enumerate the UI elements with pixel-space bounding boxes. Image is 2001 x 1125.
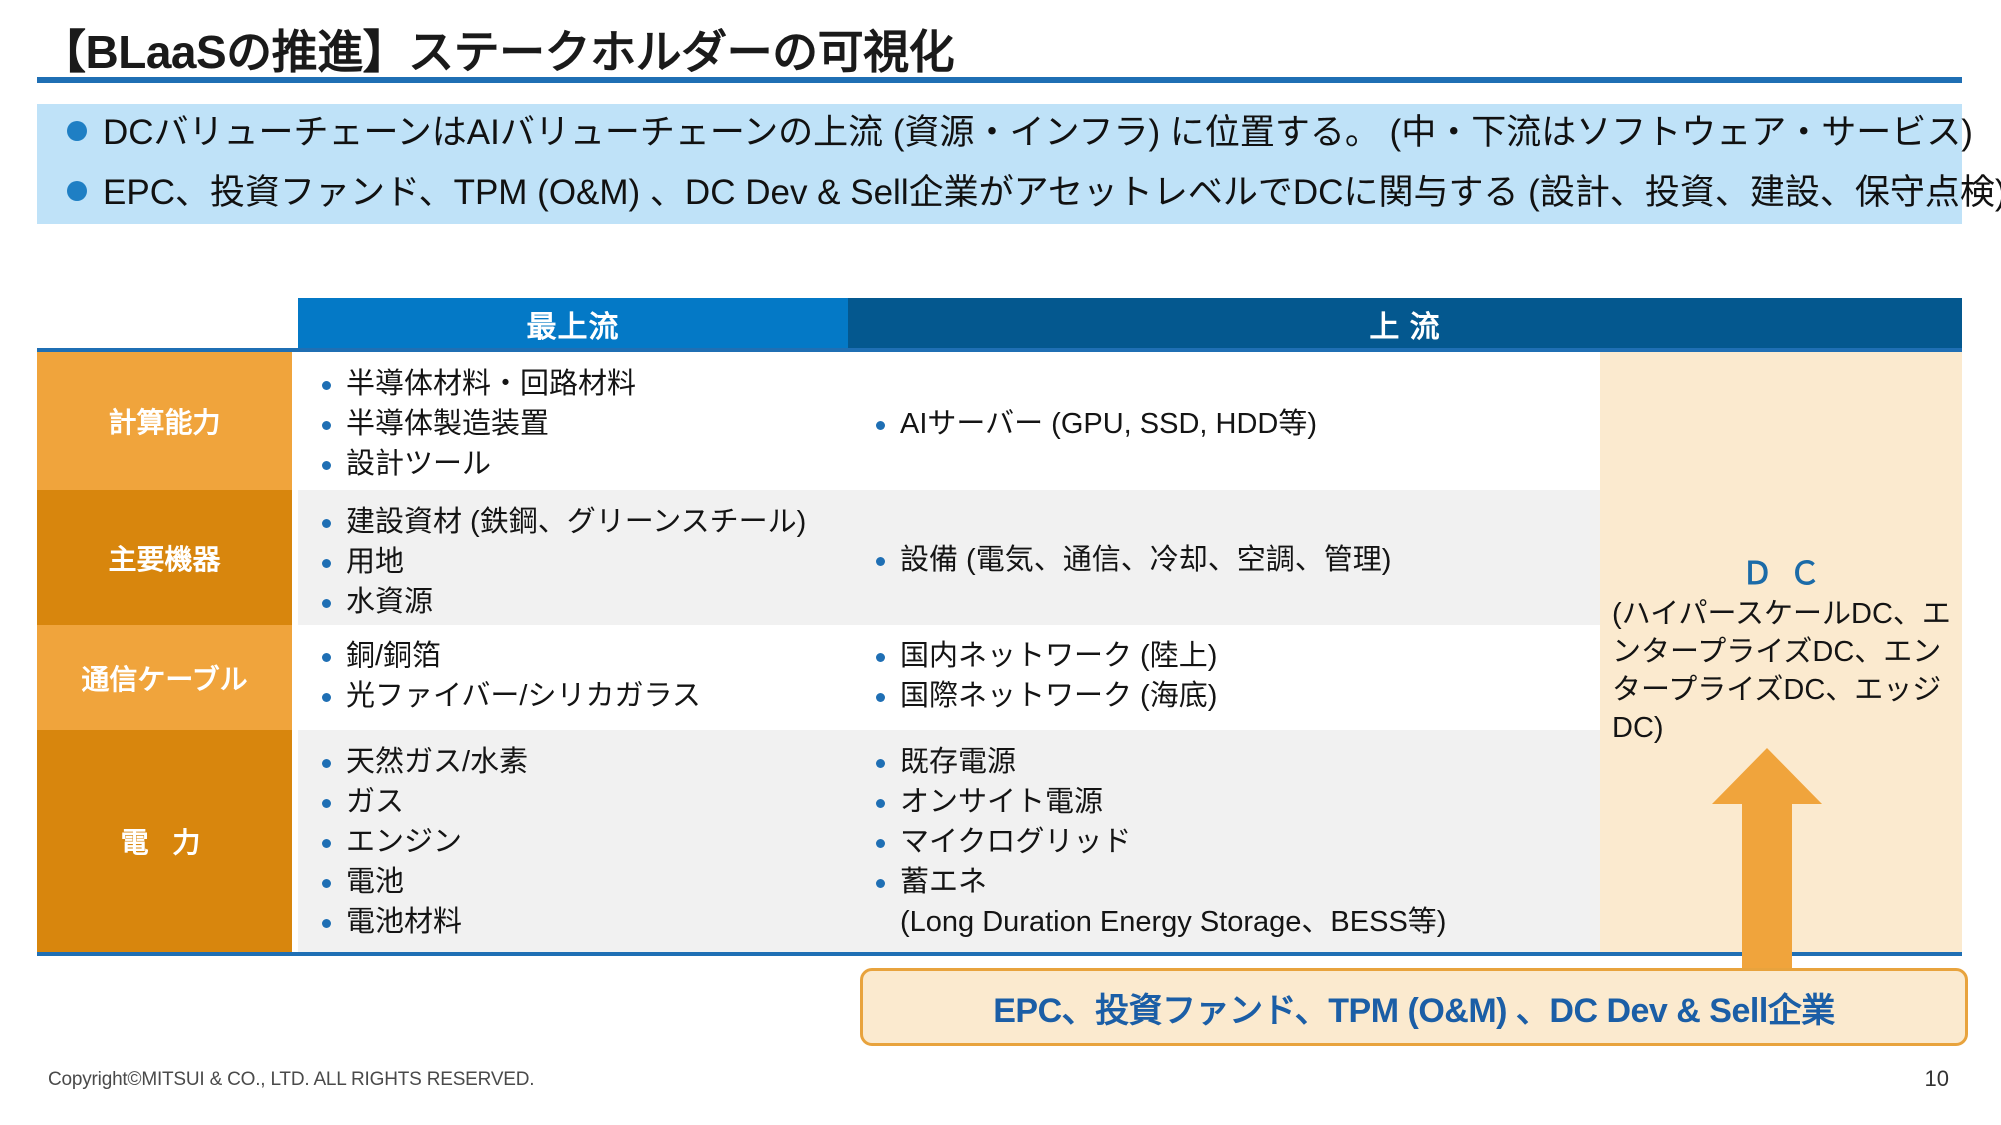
table-top-rule	[37, 348, 1962, 352]
list-item: 光ファイバー/シリカガラス	[318, 676, 838, 716]
epc-callout-box: EPC、投資ファンド、TPM (O&M) 、DC Dev & Sell企業	[860, 968, 1968, 1046]
list-item: 用地	[318, 542, 838, 582]
value-chain-table: 最上流 上 流 計算能力 主要機器 通信ケーブル 電 力 半導体材料・回路材料 …	[0, 0, 2001, 1125]
list-item: 天然ガス/水素	[318, 742, 838, 782]
list-item: 蓄エネ	[872, 862, 1592, 902]
table-cell-compute-upstream: AIサーバー (GPU, SSD, HDD等)	[872, 404, 1572, 444]
table-cell-compute-most-upstream: 半導体材料・回路材料 半導体製造装置 設計ツール	[318, 364, 838, 484]
list-item: 国際ネットワーク (海底)	[872, 676, 1572, 716]
dc-title: Ｄ Ｃ	[1612, 548, 1954, 593]
list-item: (Long Duration Energy Storage、BESS等)	[872, 902, 1592, 942]
table-row-label-key-equipment: 主要機器	[37, 490, 292, 625]
list-item: オンサイト電源	[872, 782, 1592, 822]
table-header-upstream: 上 流	[848, 298, 1962, 350]
table-cell-power-most-upstream: 天然ガス/水素 ガス エンジン 電池 電池材料	[318, 742, 838, 942]
list-item: 半導体材料・回路材料	[318, 364, 838, 404]
list-item: 電池材料	[318, 902, 838, 942]
dc-description: (ハイパースケールDC、エンタープライズDC、エンタープライズDC、エッジDC)	[1612, 595, 1954, 747]
list-item: エンジン	[318, 822, 838, 862]
list-item: マイクログリッド	[872, 822, 1592, 862]
table-row-label-power: 電 力	[37, 730, 292, 952]
list-item: 国内ネットワーク (陸上)	[872, 636, 1572, 676]
epc-callout-label: EPC、投資ファンド、TPM (O&M) 、DC Dev & Sell企業	[993, 983, 1835, 1032]
table-cell-key-equipment-upstream: 設備 (電気、通信、冷却、空調、管理)	[872, 540, 1572, 580]
slide-canvas: 【BLaaSの推進】ステークホルダーの可視化 DCバリューチェーンはAIバリュー…	[0, 0, 2001, 1125]
table-cell-comm-cable-upstream: 国内ネットワーク (陸上) 国際ネットワーク (海底)	[872, 636, 1572, 716]
table-bottom-rule	[37, 952, 1962, 956]
list-item: 既存電源	[872, 742, 1592, 782]
list-item: 銅/銅箔	[318, 636, 838, 676]
list-item: 電池	[318, 862, 838, 902]
copyright-notice: Copyright©MITSUI & CO., LTD. ALL RIGHTS …	[48, 1069, 534, 1091]
table-cell-power-upstream: 既存電源 オンサイト電源 マイクログリッド 蓄エネ (Long Duration…	[872, 742, 1592, 942]
list-item: 設備 (電気、通信、冷却、空調、管理)	[872, 540, 1572, 580]
up-arrow-icon	[1712, 748, 1822, 998]
table-cell-comm-cable-most-upstream: 銅/銅箔 光ファイバー/シリカガラス	[318, 636, 838, 716]
dc-text-block: Ｄ Ｃ (ハイパースケールDC、エンタープライズDC、エンタープライズDC、エッ…	[1612, 548, 1954, 747]
list-item: 設計ツール	[318, 444, 838, 484]
list-item: ガス	[318, 782, 838, 822]
list-item: 半導体製造装置	[318, 404, 838, 444]
list-item: 建設資材 (鉄鋼、グリーンスチール)	[318, 502, 838, 542]
table-row-label-compute: 計算能力	[37, 352, 292, 490]
table-cell-key-equipment-most-upstream: 建設資材 (鉄鋼、グリーンスチール) 用地 水資源	[318, 502, 838, 622]
list-item: AIサーバー (GPU, SSD, HDD等)	[872, 404, 1572, 444]
table-row-label-comm-cable: 通信ケーブル	[37, 625, 292, 730]
list-item: 水資源	[318, 582, 838, 622]
table-header-most-upstream: 最上流	[298, 298, 848, 350]
page-number: 10	[1925, 1066, 1949, 1092]
